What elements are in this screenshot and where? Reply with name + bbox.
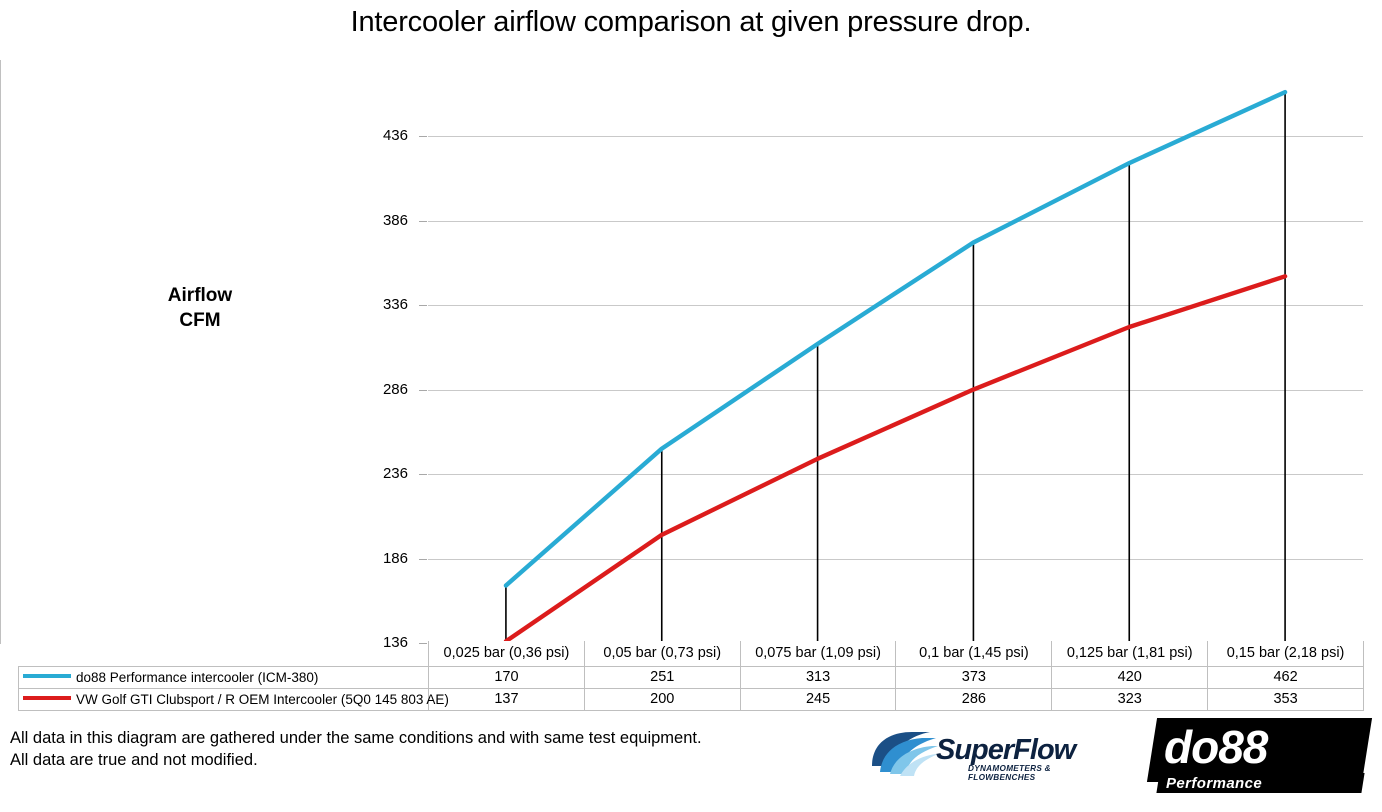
y-tick-mark [419, 305, 427, 306]
y-tick-label: 186 [362, 550, 408, 567]
superflow-logo: SuperFlow DYNAMOMETERS & FLOWBENCHES [866, 726, 1106, 784]
do88-logo: do88 Performance [1152, 718, 1367, 796]
y-tick-label: 436 [362, 127, 408, 144]
y-tick-label: 336 [362, 296, 408, 313]
y-tick-label: 386 [362, 212, 408, 229]
table-cell-value: 170 [429, 666, 585, 688]
table-cell-value: 373 [896, 666, 1052, 688]
y-tick-mark [419, 136, 427, 137]
table-header-category: 0,15 bar (2,18 psi) [1208, 641, 1364, 666]
table-cell-value: 200 [584, 688, 740, 710]
do88-performance-text: Performance [1166, 774, 1262, 793]
y-tick-mark [419, 221, 427, 222]
y-axis-label: Airflow CFM [130, 283, 270, 333]
y-axis-line [0, 60, 1, 644]
table-row-series-1: VW Golf GTI Clubsport / R OEM Intercoole… [19, 688, 1364, 710]
legend-cell-series-1: VW Golf GTI Clubsport / R OEM Intercoole… [19, 688, 429, 710]
table-cell-value: 353 [1208, 688, 1364, 710]
table-header-category: 0,1 bar (1,45 psi) [896, 641, 1052, 666]
chart-page: Intercooler airflow comparison at given … [0, 0, 1382, 812]
table-cell-value: 420 [1052, 666, 1208, 688]
table-cell-value: 313 [740, 666, 896, 688]
table-row-categories: 0,025 bar (0,36 psi)0,05 bar (0,73 psi)0… [19, 641, 1364, 666]
superflow-wordmark: SuperFlow [936, 734, 1075, 767]
data-table: 0,025 bar (0,36 psi)0,05 bar (0,73 psi)0… [18, 641, 1364, 711]
superflow-swoosh-icon [866, 726, 938, 780]
legend-swatch-series-1 [23, 696, 71, 700]
table-cell-value: 462 [1208, 666, 1364, 688]
y-tick-mark [419, 474, 427, 475]
table-header-category: 0,05 bar (0,73 psi) [584, 641, 740, 666]
table-corner-cell [19, 641, 429, 666]
table-cell-value: 323 [1052, 688, 1208, 710]
y-axis-label-line2: CFM [130, 308, 270, 333]
series-lines [428, 60, 1363, 643]
y-tick-label: 236 [362, 465, 408, 482]
table-row-series-0: do88 Performance intercooler (ICM-380) 1… [19, 666, 1364, 688]
superflow-tagline: DYNAMOMETERS & FLOWBENCHES [968, 764, 1106, 782]
plot-area [428, 60, 1363, 643]
table-header-category: 0,075 bar (1,09 psi) [740, 641, 896, 666]
legend-label-series-0: do88 Performance intercooler (ICM-380) [76, 670, 318, 685]
footer-note-line1: All data in this diagram are gathered un… [10, 727, 702, 749]
table-cell-value: 245 [740, 688, 896, 710]
table-cell-value: 286 [896, 688, 1052, 710]
table-cell-value: 251 [584, 666, 740, 688]
series-line-0 [506, 92, 1285, 585]
series-line-1 [506, 276, 1285, 641]
page-title: Intercooler airflow comparison at given … [0, 6, 1382, 39]
y-tick-label: 286 [362, 381, 408, 398]
legend-cell-series-0: do88 Performance intercooler (ICM-380) [19, 666, 429, 688]
table-header-category: 0,125 bar (1,81 psi) [1052, 641, 1208, 666]
table-header-category: 0,025 bar (0,36 psi) [429, 641, 585, 666]
legend-label-series-1: VW Golf GTI Clubsport / R OEM Intercoole… [76, 692, 449, 707]
y-axis-label-line1: Airflow [130, 283, 270, 308]
footer-note-line2: All data are true and not modified. [10, 749, 702, 771]
y-tick-mark [419, 390, 427, 391]
table-cell-value: 137 [429, 688, 585, 710]
y-tick-mark [419, 559, 427, 560]
do88-wordmark: do88 [1164, 721, 1267, 773]
legend-swatch-series-0 [23, 674, 71, 678]
footer-note: All data in this diagram are gathered un… [10, 727, 702, 771]
